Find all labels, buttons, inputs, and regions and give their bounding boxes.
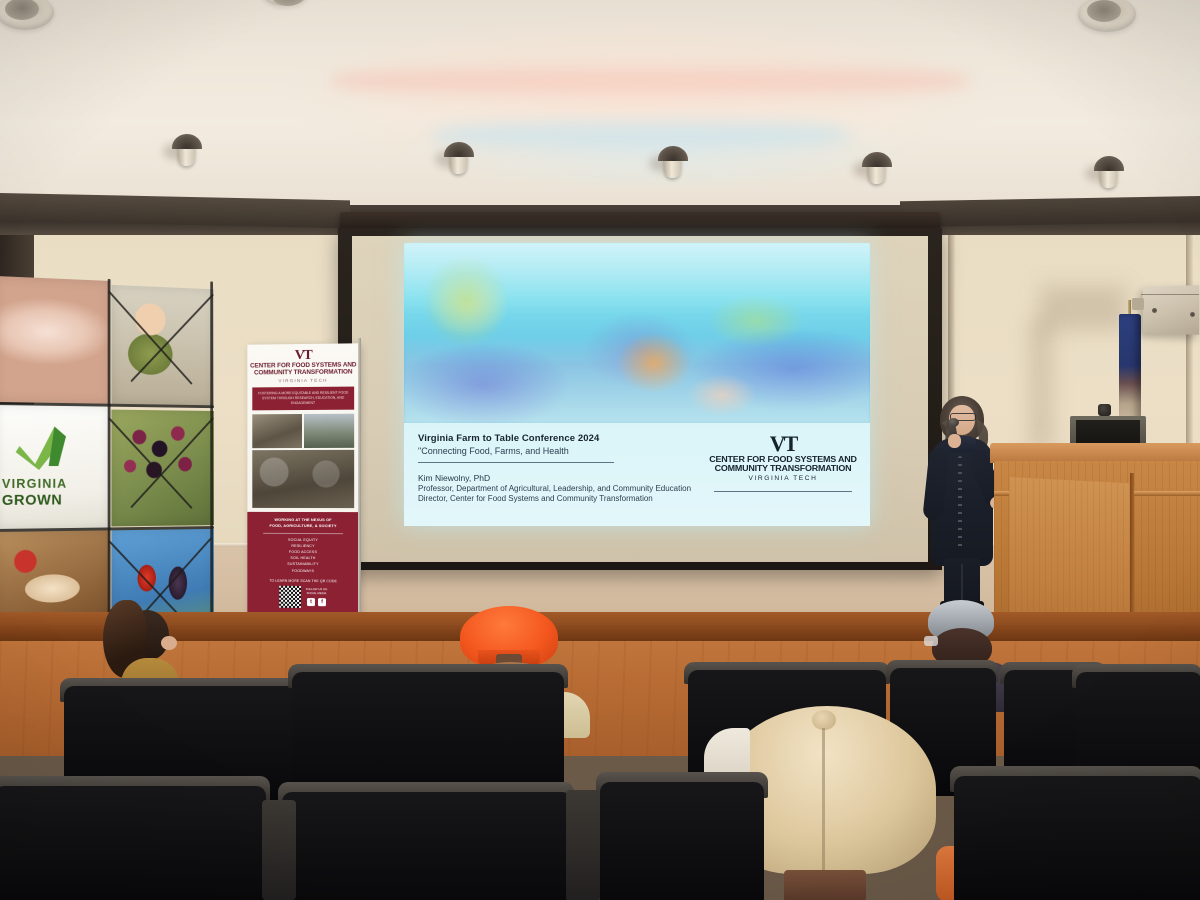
microphone-head-icon (948, 418, 959, 427)
spotlight-hood-icon (172, 134, 202, 149)
presenter-leg-split (961, 564, 963, 604)
chair-back[interactable] (0, 786, 266, 900)
banner-logo-line-2: COMMUNITY TRANSFORMATION (247, 369, 359, 377)
display-frame-strut (210, 282, 213, 653)
banner-social-icons: t f (307, 598, 326, 606)
ceiling-spotlight-3 (658, 146, 688, 178)
banner-social-block: FOLLOW US ON SOCIAL MEDIA t f (306, 588, 327, 606)
vt-logo-mark-icon: VT (712, 433, 854, 455)
twitter-icon: t (307, 598, 315, 606)
speaker-shadow (1040, 286, 1126, 330)
virginia-grown-line-2: GROWN (2, 492, 62, 509)
projector-spill-glow (430, 118, 850, 152)
speaker-grille-icon (5, 0, 39, 20)
slide-title: Virginia Farm to Table Conference 2024 (418, 433, 738, 444)
banner-follow-label-2: SOCIAL MEDIA (307, 592, 327, 596)
slide-presenter-role-2: Director, Center for Food Systems and Co… (418, 494, 738, 503)
chair-armrest[interactable] (262, 800, 296, 900)
banner-photo-wide (252, 450, 354, 508)
banner-logo-line-3: VIRGINIA TECH (247, 377, 359, 383)
ceiling (0, 0, 1200, 212)
audience-neck (784, 870, 866, 900)
chair-back[interactable] (600, 782, 764, 900)
spotlight-hood-icon (658, 146, 688, 161)
slide-logo-line-3: VIRGINIA TECH (712, 475, 854, 482)
ceiling-spotlight-5 (1094, 156, 1124, 188)
slide-presenter-role-1: Professor, Department of Agricultural, L… (418, 484, 738, 493)
facebook-icon: f (318, 598, 326, 606)
webcam-icon (1098, 404, 1111, 416)
ceiling-spotlight-2 (444, 142, 474, 174)
slide-photo-pumpkins (404, 243, 870, 423)
ceiling-spotlight-1 (172, 134, 202, 166)
speaker-edge-line (1141, 294, 1199, 295)
popup-panel-meat (0, 276, 110, 404)
slide-logo-line-2: COMMUNITY TRANSFORMATION (709, 464, 857, 473)
slide-vt-logo: VT CENTER FOR FOOD SYSTEMS AND COMMUNITY… (712, 433, 854, 492)
speaker-bolt-icon (1190, 312, 1195, 317)
banner-photo-people (252, 414, 302, 448)
glasses-icon (924, 636, 938, 646)
flag-shadow (1030, 320, 1052, 450)
spotlight-hood-icon (444, 142, 474, 157)
speaker-grille-icon (1087, 0, 1121, 22)
rollup-banner: VT CENTER FOR FOOD SYSTEMS AND COMMUNITY… (247, 343, 359, 629)
cap-button-icon (812, 710, 836, 730)
banner-info-block: WORKING AT THE NEXUS OF FOOD, AGRICULTUR… (247, 512, 359, 627)
qr-code-icon (279, 586, 301, 608)
slide-logo-divider (714, 491, 852, 492)
virginia-grown-line-1: VIRGINIA (2, 476, 67, 491)
chair-back[interactable] (954, 776, 1200, 900)
banner-topic: FOODWAYS (251, 567, 355, 574)
ceiling-spotlight-4 (862, 152, 892, 184)
banner-photo-row (252, 414, 354, 448)
popup-panel-logo: VIRGINIA GROWN (0, 404, 110, 530)
podium-top-surface (990, 443, 1200, 463)
presentation-slide: Virginia Farm to Table Conference 2024 "… (404, 243, 870, 526)
banner-qr-row: FOLLOW US ON SOCIAL MEDIA t f (251, 585, 355, 608)
banner-divider (263, 533, 343, 534)
virginia-grown-check-icon (16, 422, 76, 472)
cap-seam (822, 728, 825, 876)
presenter-hand-holding-mic (948, 434, 961, 448)
chair-armrest[interactable] (566, 790, 600, 900)
speaker-mount-bracket (1132, 298, 1144, 310)
banner-support-pole (358, 338, 361, 630)
speaker-bolt-icon (1152, 308, 1157, 313)
slide-divider (418, 462, 614, 463)
spotlight-hood-icon (862, 152, 892, 167)
banner-tagline: FOSTERING A MORE EQUITABLE AND RESILIENT… (252, 386, 354, 410)
banner-photo-field (304, 414, 354, 448)
slide-text-block: Virginia Farm to Table Conference 2024 "… (418, 433, 738, 504)
banner-qr-prompt: TO LEARN MORE SCAN THE QR CODE (251, 578, 355, 583)
ceiling-light-glow (330, 60, 970, 102)
ceiling-soffit-right (900, 196, 1200, 227)
banner-headline-2: FOOD, AGRICULTURE, & SOCIETY (251, 523, 355, 530)
popup-panel-berries (111, 410, 213, 527)
auditorium-photo: Virginia Farm to Table Conference 2024 "… (0, 0, 1200, 900)
spotlight-hood-icon (1094, 156, 1124, 171)
presenter-button-row (958, 456, 962, 552)
slide-presenter-name: Kim Niewolny, PhD (418, 473, 738, 483)
audience-ear (161, 636, 177, 650)
virginia-flag (1119, 314, 1141, 426)
chair-back[interactable] (282, 792, 572, 900)
slide-subtitle: "Connecting Food, Farms, and Health (418, 446, 738, 456)
